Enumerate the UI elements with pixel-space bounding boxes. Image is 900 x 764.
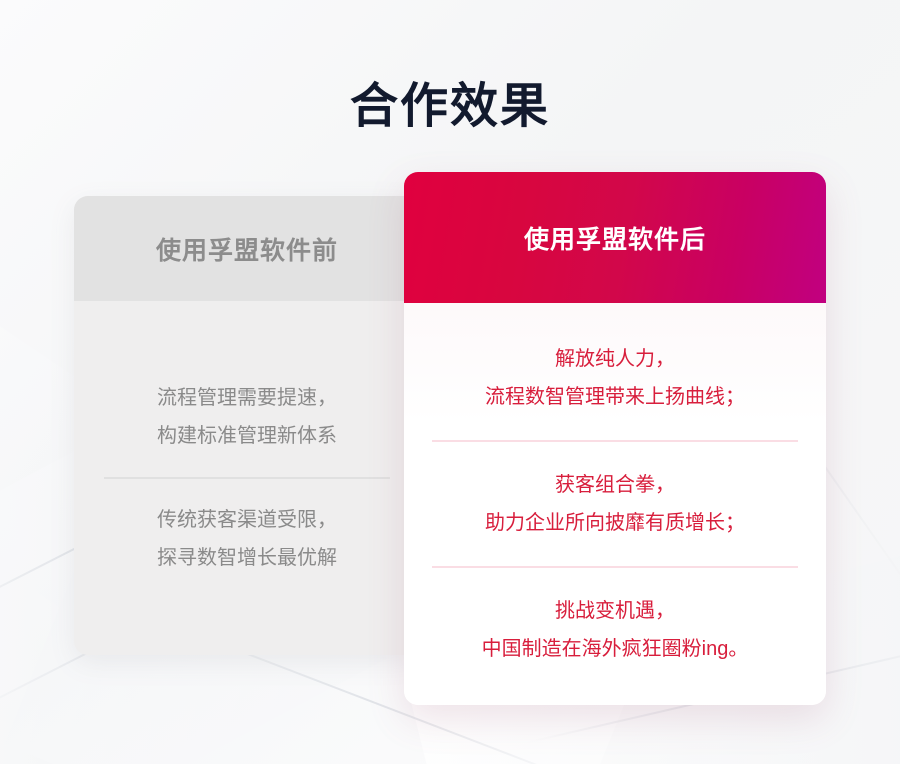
page-title: 合作效果: [0, 79, 900, 134]
item-line-1: 流程管理需要提速，: [104, 379, 390, 417]
card-before-header: 使用孚盟软件前: [74, 196, 420, 301]
card-before-body: 流程管理需要提速， 构建标准管理新体系 传统获客渠道受限， 探寻数智增长最优解: [74, 301, 420, 655]
list-item: 获客组合拳， 助力企业所向披靡有质增长；: [432, 440, 798, 566]
card-before-software: 使用孚盟软件前 流程管理需要提速， 构建标准管理新体系 传统获客渠道受限， 探寻…: [74, 196, 420, 655]
card-before-header-label: 使用孚盟软件前: [156, 231, 338, 267]
list-item: 挑战变机遇， 中国制造在海外疯狂圈粉ing。: [432, 566, 798, 692]
card-after-header-label: 使用孚盟软件后: [524, 220, 706, 256]
item-line-2: 构建标准管理新体系: [104, 417, 390, 455]
card-after-body: 解放纯人力， 流程数智管理带来上扬曲线； 获客组合拳， 助力企业所向披靡有质增长…: [404, 303, 826, 705]
item-line-2: 流程数智管理带来上扬曲线；: [432, 378, 798, 416]
card-after-software: 使用孚盟软件后 解放纯人力， 流程数智管理带来上扬曲线； 获客组合拳， 助力企业…: [404, 172, 826, 705]
card-after-header: 使用孚盟软件后: [404, 172, 826, 303]
item-line-2: 探寻数智增长最优解: [104, 539, 390, 577]
item-line-1: 获客组合拳，: [432, 466, 798, 504]
list-item: 解放纯人力， 流程数智管理带来上扬曲线；: [432, 316, 798, 440]
item-line-2: 助力企业所向披靡有质增长；: [432, 504, 798, 542]
page-stage: 合作效果 使用孚盟软件前 流程管理需要提速， 构建标准管理新体系 传统获客渠道受…: [0, 0, 900, 764]
item-line-1: 解放纯人力，: [432, 340, 798, 378]
list-item: 流程管理需要提速， 构建标准管理新体系: [104, 357, 390, 477]
list-item: 传统获客渠道受限， 探寻数智增长最优解: [104, 477, 390, 599]
item-line-1: 挑战变机遇，: [432, 592, 798, 630]
item-line-2: 中国制造在海外疯狂圈粉ing。: [432, 630, 798, 668]
item-line-1: 传统获客渠道受限，: [104, 501, 390, 539]
